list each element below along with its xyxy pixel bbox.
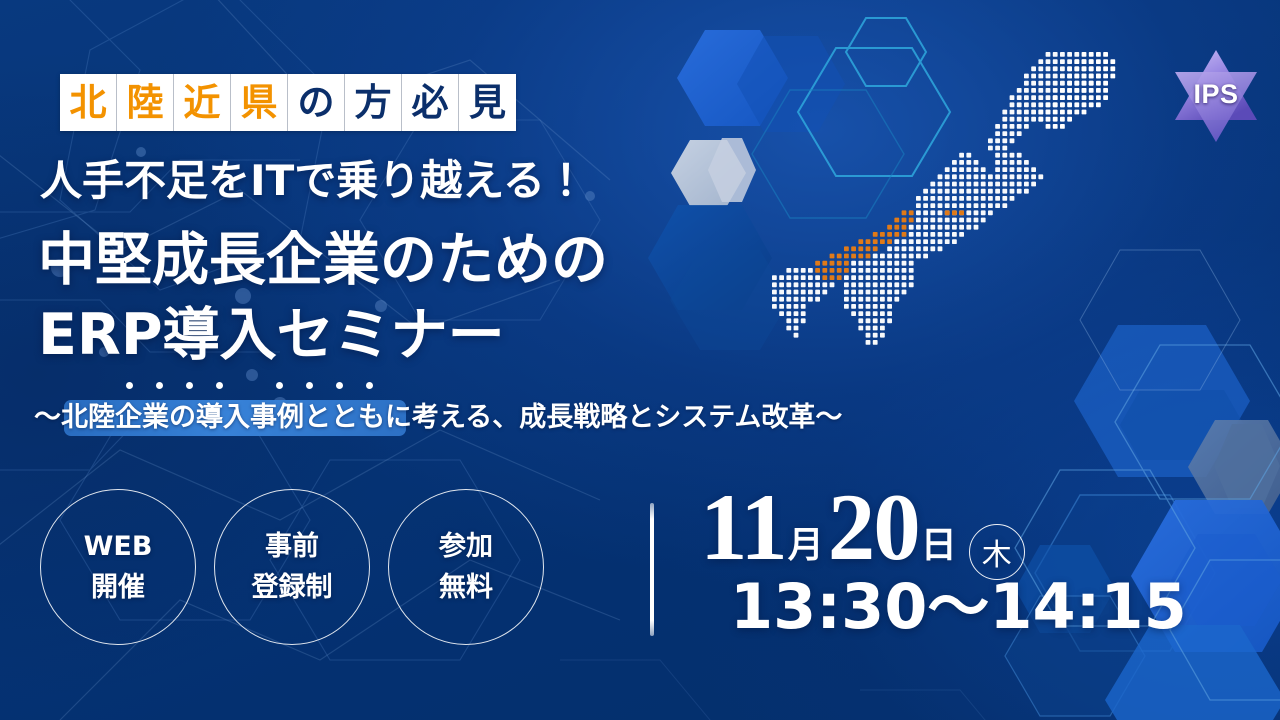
info-circle-line-1: 事前	[265, 527, 319, 566]
emphasis-dots	[126, 382, 373, 389]
info-circle-line-2: 無料	[439, 568, 493, 607]
info-circle-0: WEB開催	[40, 489, 196, 645]
event-date-row: 11 月 20 日 木	[700, 480, 1187, 572]
info-circle-2: 参加無料	[388, 489, 544, 645]
info-circle-line-2: 登録制	[252, 568, 333, 607]
kicker-cell-1: 陸	[117, 74, 174, 131]
kicker-cell-0: 北	[60, 74, 117, 131]
subtitle-block: 〜北陸企業の導入事例とともに考える、成長戦略とシステム改革〜	[34, 398, 842, 438]
vertical-divider	[650, 503, 654, 636]
info-circles: WEB開催事前登録制参加無料	[40, 489, 544, 645]
info-circle-1: 事前登録制	[214, 489, 370, 645]
kicker-cell-6: 必	[402, 74, 459, 131]
event-date-block: 11 月 20 日 木 13:30〜14:15	[700, 480, 1187, 638]
event-month-number: 11	[700, 480, 786, 575]
headline-line-2: ERP導入セミナー	[38, 307, 505, 364]
headline-line-1: 中堅成長企業のための	[38, 232, 608, 289]
seminar-banner: IPS 北陸近県の方必見 人手不足をITで乗り越える！ 中堅成長企業のための E…	[0, 0, 1280, 720]
info-circle-line-2: 開催	[91, 568, 145, 607]
info-circle-line-1: WEB	[84, 527, 153, 566]
event-month-unit: 月	[788, 528, 824, 564]
kicker-cell-3: 県	[231, 74, 288, 131]
subtitle-text: 〜北陸企業の導入事例とともに考える、成長戦略とシステム改革〜	[34, 398, 842, 438]
event-day-unit: 日	[921, 528, 957, 564]
event-day-number: 20	[828, 480, 919, 575]
headline-lead: 人手不足をITで乗り越える！	[40, 160, 587, 202]
info-circle-line-1: 参加	[439, 527, 493, 566]
event-day-of-week: 木	[969, 524, 1025, 580]
kicker-cell-2: 近	[174, 74, 231, 131]
kicker-cell-4: の	[288, 74, 345, 131]
logo-text: IPS	[1163, 40, 1269, 152]
kicker-badge: 北陸近県の方必見	[60, 74, 516, 131]
event-time: 13:30〜14:15	[730, 576, 1187, 638]
kicker-cell-5: 方	[345, 74, 402, 131]
ips-logo: IPS	[1163, 40, 1269, 152]
kicker-cell-7: 見	[459, 74, 516, 131]
